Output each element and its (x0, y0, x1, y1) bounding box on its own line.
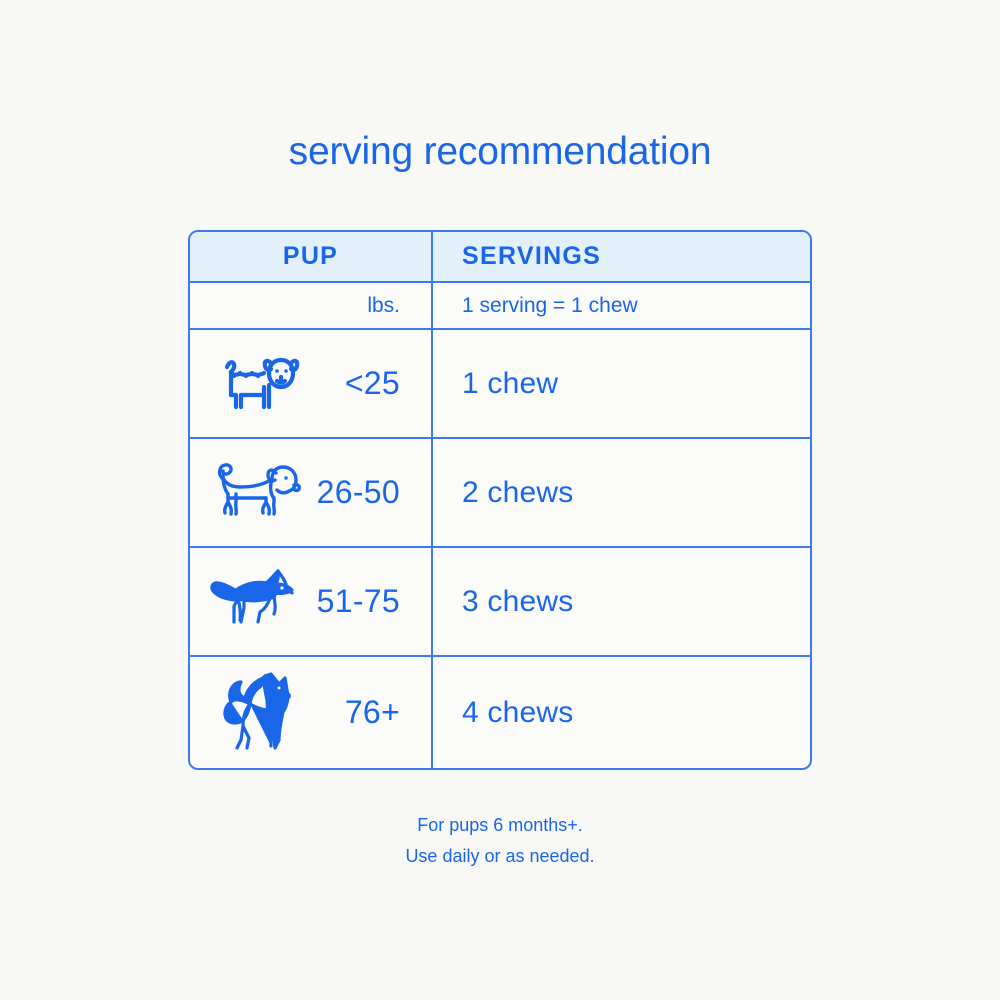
table-header-row: PUP SERVINGS (190, 232, 810, 283)
servings-cell: 2 chews (433, 439, 810, 546)
footnote: For pups 6 months+. Use daily or as need… (0, 810, 1000, 872)
subheader-cell-serving-definition: 1 serving = 1 chew (433, 283, 810, 328)
table-row: 26-50 2 chews (190, 439, 810, 548)
pup-cell: 51-75 (190, 548, 433, 655)
small-dog-icon (206, 341, 314, 427)
servings-cell: 3 chews (433, 548, 810, 655)
subheader-label-lbs: lbs. (190, 294, 431, 318)
header-label-servings: SERVINGS (462, 242, 601, 271)
subheader-label-serving-definition: 1 serving = 1 chew (462, 294, 638, 318)
table-subheader-row: lbs. 1 serving = 1 chew (190, 283, 810, 330)
servings-value: 1 chew (462, 367, 558, 401)
header-label-pup: PUP (190, 242, 431, 271)
serving-recommendation-table: PUP SERVINGS lbs. 1 serving = 1 chew (188, 230, 812, 770)
pup-cell: 26-50 (190, 439, 433, 546)
shepherd-dog-icon (206, 559, 314, 645)
servings-value: 3 chews (462, 585, 573, 619)
page-title: serving recommendation (0, 128, 1000, 176)
header-cell-servings: SERVINGS (433, 232, 810, 281)
poodle-dog-icon (206, 450, 314, 536)
header-cell-pup: PUP (190, 232, 433, 281)
table-row: 51-75 3 chews (190, 548, 810, 657)
table-row: 76+ 4 chews (190, 657, 810, 768)
serving-recommendation-page: serving recommendation PUP SERVINGS lbs.… (0, 0, 1000, 1000)
subheader-cell-units: lbs. (190, 283, 433, 328)
pup-cell: 76+ (190, 657, 433, 768)
table-row: <25 1 chew (190, 330, 810, 439)
husky-dog-icon (206, 670, 314, 756)
servings-value: 4 chews (462, 696, 573, 730)
footnote-line-1: For pups 6 months+. (0, 810, 1000, 841)
servings-cell: 4 chews (433, 657, 810, 768)
servings-value: 2 chews (462, 476, 573, 510)
footnote-line-2: Use daily or as needed. (0, 841, 1000, 872)
servings-cell: 1 chew (433, 330, 810, 437)
pup-cell: <25 (190, 330, 433, 437)
